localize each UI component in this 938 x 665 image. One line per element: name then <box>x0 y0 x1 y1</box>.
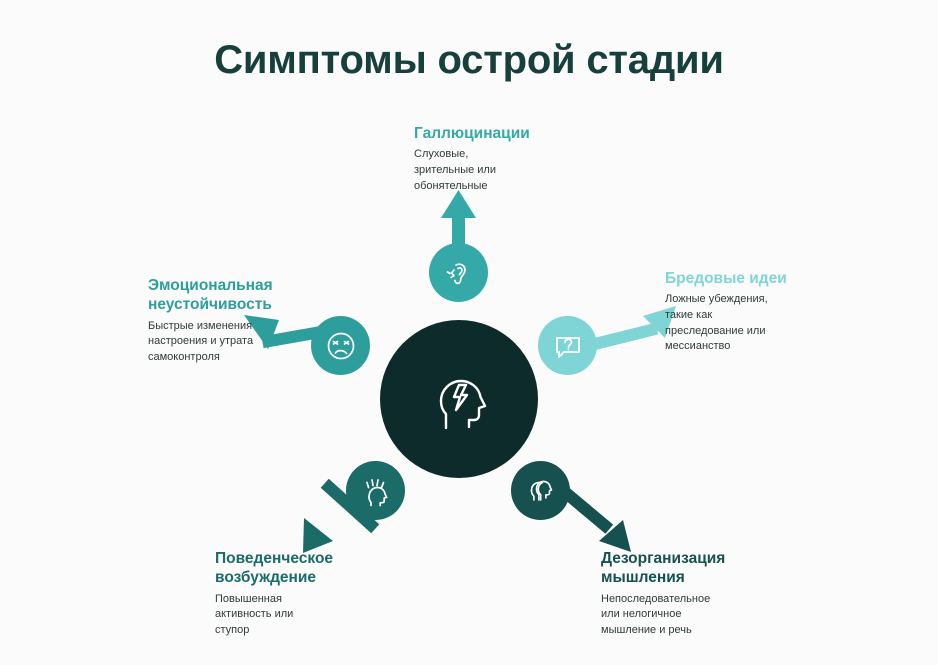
infographic-canvas: Симптомы острой стадии <box>0 0 938 665</box>
label-heading: Галлюцинации <box>414 124 594 143</box>
label-hallucinations: Галлюцинации Слуховые, зрительные или об… <box>414 124 594 194</box>
label-heading: Бредовые идеи <box>665 269 855 288</box>
node-hallucinations[interactable] <box>429 243 488 302</box>
node-behavioral-agitation[interactable] <box>346 461 405 520</box>
label-body: Непоследовательное или нелогичное мышлен… <box>601 592 801 639</box>
label-heading: Поведенческое возбуждение <box>215 549 405 588</box>
label-heading: Дезорганизация мышления <box>601 549 801 588</box>
label-heading: Эмоциональная неустойчивость <box>148 276 338 315</box>
question-speech-bubble-icon <box>551 329 585 363</box>
agitated-head-icon <box>358 473 394 509</box>
node-delusional-ideas[interactable] <box>538 316 597 375</box>
label-body: Ложные убеждения, такие как преследовани… <box>665 292 855 354</box>
label-emotional-instability: Эмоциональная неустойчивость Быстрые изм… <box>148 276 338 366</box>
label-behavioral-agitation: Поведенческое возбуждение Повышенная акт… <box>215 549 405 639</box>
ear-sound-waves-icon <box>442 256 476 290</box>
multiple-heads-icon <box>523 473 559 509</box>
node-disorganized-thinking[interactable] <box>511 461 570 520</box>
label-disorganized-thinking: Дезорганизация мышления Непоследовательн… <box>601 549 801 639</box>
label-body: Быстрые изменения настроения и утрата са… <box>148 319 338 366</box>
label-body: Повышенная активность или ступор <box>215 592 405 639</box>
label-body: Слуховые, зрительные или обонятельные <box>414 147 594 194</box>
label-delusional-ideas: Бредовые идеи Ложные убеждения, такие ка… <box>665 269 855 355</box>
